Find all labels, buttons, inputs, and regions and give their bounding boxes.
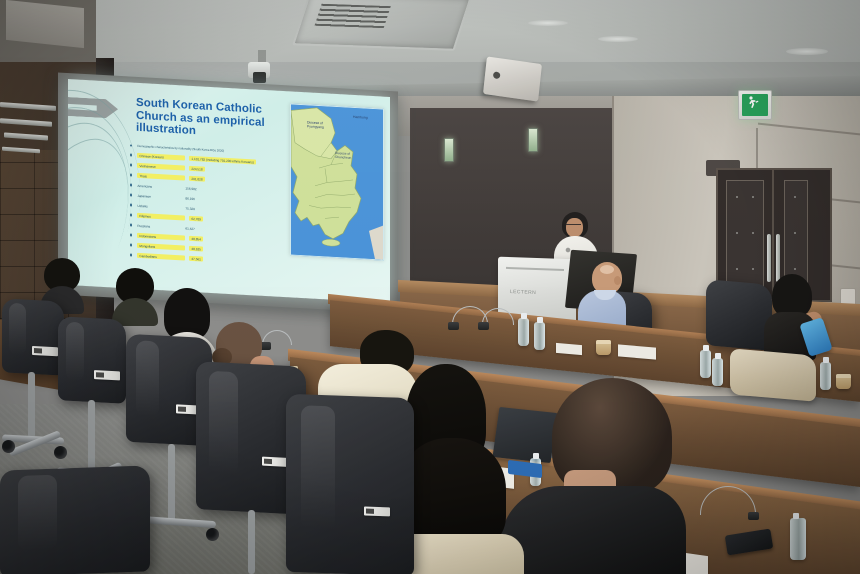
row-label: Cambodians bbox=[137, 253, 185, 261]
ceiling-downlight bbox=[598, 36, 638, 42]
attendee-fg-7 bbox=[500, 378, 700, 574]
seated-man-ear bbox=[614, 276, 621, 285]
attendee-fg-2 bbox=[112, 268, 158, 326]
svg-text:Hamhung: Hamhung bbox=[353, 115, 368, 120]
row-value: 47,561 bbox=[189, 256, 202, 262]
bullet-dot-icon bbox=[130, 164, 132, 167]
row-value: 62,789 bbox=[189, 216, 202, 222]
bullet-dot-icon bbox=[130, 244, 132, 247]
row-value: 86,196 bbox=[185, 196, 194, 201]
chair-caster bbox=[206, 528, 219, 541]
row-label: Uzbeks bbox=[137, 203, 181, 209]
korea-dioceses-map: Diocese of Pyongyang Hamhung Diocese of … bbox=[290, 103, 384, 260]
row-value: 61,427 bbox=[185, 226, 194, 231]
wall-sconce bbox=[444, 138, 454, 162]
row-label: Japanese bbox=[137, 193, 181, 199]
bullet-dot-icon bbox=[130, 234, 132, 237]
bullet-dot-icon bbox=[130, 194, 132, 197]
row-label: Americans bbox=[137, 184, 181, 190]
bullet-dot-icon bbox=[130, 224, 132, 227]
microphone-base bbox=[448, 322, 459, 330]
podium-label: LECTERN bbox=[510, 289, 536, 296]
running-man-icon bbox=[746, 95, 760, 111]
paper-sheet bbox=[556, 343, 582, 355]
chair-back[interactable] bbox=[2, 298, 64, 375]
bullet-dot-icon bbox=[130, 184, 132, 187]
chair-back[interactable] bbox=[0, 465, 150, 574]
coffee-cup bbox=[596, 340, 611, 355]
row-value: 48,854 bbox=[189, 236, 202, 242]
ceiling-downlight bbox=[528, 20, 568, 26]
row-value: 75,320 bbox=[185, 206, 194, 211]
coffee-cup bbox=[836, 374, 851, 389]
row-label: Russians bbox=[137, 223, 181, 229]
chair-label bbox=[32, 346, 58, 356]
svg-text:Chuncheon: Chuncheon bbox=[335, 155, 352, 160]
chair-back[interactable] bbox=[58, 316, 126, 404]
bullet-dot-icon bbox=[130, 154, 132, 157]
bullet-dot-icon bbox=[130, 204, 132, 207]
chair-caster bbox=[2, 440, 15, 453]
ceiling-downlight bbox=[786, 48, 828, 55]
security-camera-lens bbox=[253, 72, 266, 83]
chair-label bbox=[364, 506, 390, 516]
emergency-exit-sign bbox=[738, 90, 772, 120]
tote-bag bbox=[730, 348, 816, 402]
row-label: Thais bbox=[137, 173, 185, 181]
water-bottle bbox=[518, 318, 529, 346]
chair-back[interactable] bbox=[286, 394, 414, 574]
chair-caster bbox=[54, 446, 67, 459]
water-bottle bbox=[700, 350, 711, 378]
row-label: Filipinos bbox=[137, 213, 185, 221]
water-bottle bbox=[712, 358, 723, 386]
wall-sconce bbox=[528, 128, 538, 152]
chair-label bbox=[262, 457, 288, 467]
bullet-dot-icon bbox=[130, 174, 132, 177]
chair-post bbox=[248, 510, 255, 574]
row-label: Indonesians bbox=[137, 233, 185, 241]
bullet-dot-icon bbox=[130, 254, 132, 257]
chair-post bbox=[88, 400, 95, 472]
slide-bullet-list: Demographic characteristics by nationali… bbox=[130, 140, 280, 268]
microphone-base bbox=[478, 322, 489, 330]
ceiling-ac-vent bbox=[292, 0, 472, 51]
row-value: 201,828 bbox=[189, 176, 204, 182]
row-label: Chinese (Korean) bbox=[137, 153, 185, 161]
bullet-dot-icon bbox=[130, 144, 132, 147]
microphone-base bbox=[748, 512, 759, 520]
wall-speaker bbox=[483, 56, 542, 101]
chair-label bbox=[94, 370, 120, 380]
water-bottle bbox=[534, 322, 545, 350]
bullet-dot-icon bbox=[130, 214, 132, 217]
presenter-glasses bbox=[566, 224, 581, 228]
water-bottle bbox=[790, 518, 806, 560]
left-wall-upper-plate bbox=[6, 0, 84, 48]
seated-man-bald-shine bbox=[600, 265, 614, 274]
row-value: 156,982 bbox=[185, 186, 196, 191]
conference-room-photo: South Korean Catholic Church as an empir… bbox=[0, 0, 860, 574]
row-label: Vietnamese bbox=[137, 163, 185, 171]
chair-post bbox=[168, 444, 175, 522]
slide-title: South Korean Catholic Church as an empir… bbox=[136, 97, 276, 143]
water-bottle bbox=[820, 362, 831, 390]
row-label: Mongolians bbox=[137, 243, 185, 251]
row-value: 48,185 bbox=[189, 246, 202, 252]
chair-post bbox=[28, 372, 35, 438]
row-value: 224,518 bbox=[189, 166, 204, 172]
